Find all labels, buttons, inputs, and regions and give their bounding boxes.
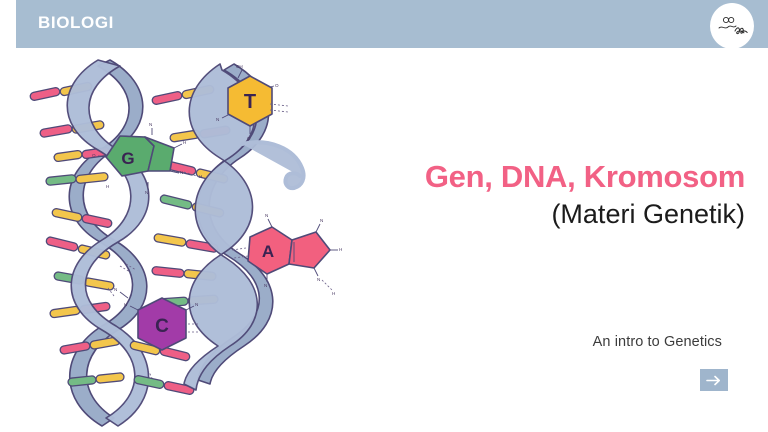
- atom-label-H-a2: H: [332, 291, 335, 296]
- dna-illustration-svg: .bb { fill:#aebdd8; stroke:#4f4a78; stro…: [2, 52, 352, 430]
- atom-label-O-1: O: [275, 83, 279, 88]
- title-block: Gen, DNA, Kromosom (Materi Genetik): [325, 160, 745, 230]
- atom-label-H-g2: H: [106, 184, 109, 189]
- atom-label-N-g1: N: [149, 122, 152, 127]
- atom-label-H-g3: H: [199, 174, 202, 179]
- page-title: BIOLOGI: [38, 13, 114, 33]
- header-bar: BIOLOGI: [16, 0, 768, 48]
- tagline: An intro to Genetics: [593, 334, 722, 350]
- atom-label-N-g2: N: [180, 170, 183, 175]
- left-helix: [29, 60, 148, 426]
- atom-label-N-a3: N: [317, 277, 320, 282]
- brand-logo: [710, 3, 754, 49]
- title-main: Gen, DNA, Kromosom: [325, 160, 745, 195]
- brand-logo-icon: [715, 13, 749, 39]
- atom-label-O-2: O: [247, 136, 251, 141]
- atom-label-N-a1: N: [265, 213, 268, 218]
- atom-label-N-g3: N: [145, 190, 148, 195]
- atom-label-N-c1: N: [195, 302, 198, 307]
- base-letter-C: C: [155, 316, 169, 337]
- atom-label-N-c2: N: [114, 287, 117, 292]
- base-letter-G: G: [121, 149, 134, 168]
- atom-label-N-t: N: [216, 117, 219, 122]
- atom-label-O-g: O: [92, 153, 96, 158]
- atom-label-CH: CH: [236, 64, 243, 69]
- slide-canvas: BIOLOGI .bb { fill:#aebdd8; stroke:#4f4a…: [0, 0, 768, 432]
- atom-label-H-c1: H: [124, 302, 127, 307]
- atom-label-N-a4: N: [264, 283, 267, 288]
- adenine-ring-5: [289, 232, 330, 268]
- dna-double-helix-diagram: .bb { fill:#aebdd8; stroke:#4f4a78; stro…: [2, 52, 352, 430]
- next-slide-button[interactable]: [700, 369, 728, 391]
- atom-label-H-a1: H: [339, 247, 342, 252]
- base-letter-T: T: [244, 91, 256, 113]
- title-subtitle: (Materi Genetik): [325, 199, 745, 230]
- arrow-right-icon: [706, 375, 722, 386]
- atom-label-H-g1: H: [183, 140, 186, 145]
- base-letter-A: A: [262, 242, 274, 261]
- atom-label-N-a2: N: [320, 218, 323, 223]
